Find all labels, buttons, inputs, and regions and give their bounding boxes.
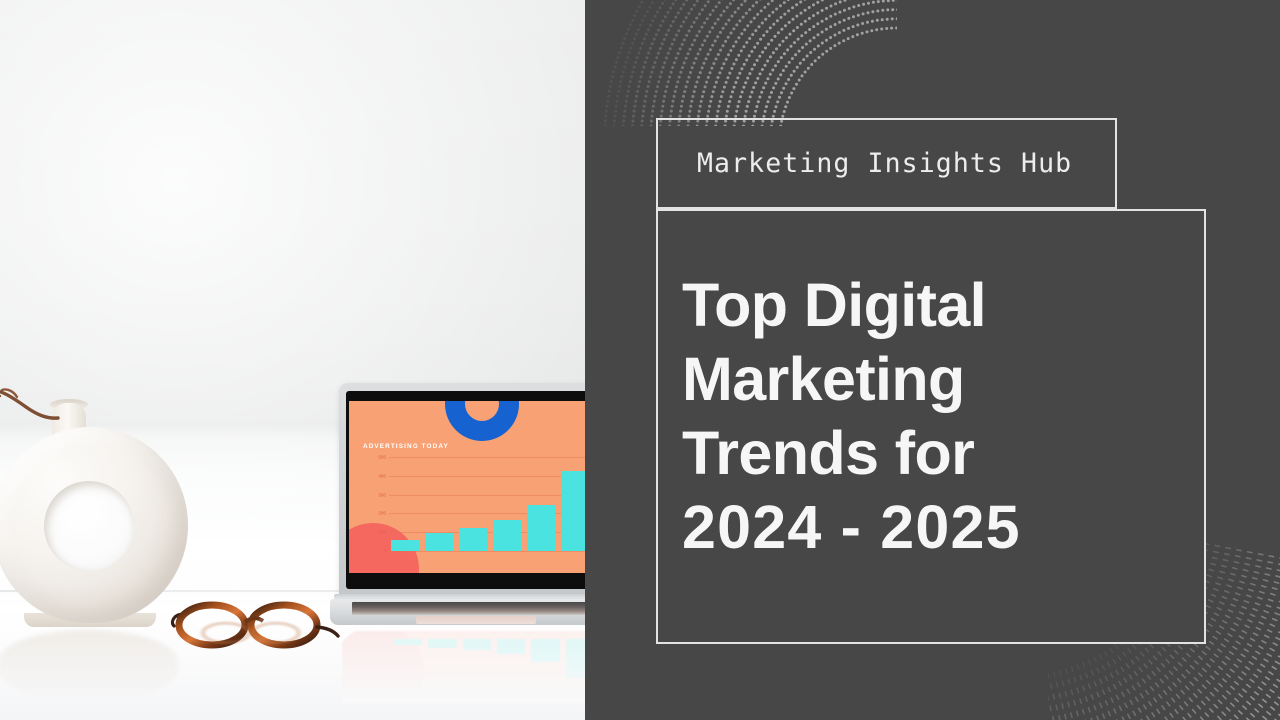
laptop-trackpad xyxy=(416,616,536,624)
headline-line-2: Marketing xyxy=(682,342,1182,416)
screen-chart-plot: 500 400 300 200 100 0 xyxy=(389,457,585,551)
headline-line-4: 2024 - 2025 xyxy=(682,490,1182,564)
chart-bar xyxy=(493,520,521,551)
chart-bar xyxy=(425,533,453,551)
chart-bar xyxy=(527,505,555,551)
gridline: 0 xyxy=(389,551,585,552)
dried-branch-icon xyxy=(0,385,92,431)
headline-line-3: Trends for xyxy=(682,416,1182,490)
screen-chart-title: ADVERTISING TODAY xyxy=(363,443,449,450)
content-panel: Marketing Insights Hub Top Digital Marke… xyxy=(585,0,1280,720)
chart-bar xyxy=(459,528,487,551)
laptop: ADVERTISING TODAY 500 400 300 200 100 0 xyxy=(334,383,585,633)
screen-donut-shape xyxy=(445,401,519,441)
laptop-keyboard xyxy=(352,602,585,615)
eyebrow-text: Marketing Insights Hub xyxy=(697,148,1072,179)
headline-line-1: Top Digital xyxy=(682,268,1182,342)
eyebrow-frame: Marketing Insights Hub xyxy=(656,118,1117,209)
y-tick: 300 xyxy=(378,492,386,497)
chart-bar xyxy=(391,540,419,551)
chart-bars xyxy=(389,457,585,551)
photo-panel: ADVERTISING TODAY 500 400 300 200 100 0 xyxy=(0,0,585,720)
halftone-pattern-top-left-icon xyxy=(585,0,897,126)
laptop-screen: ADVERTISING TODAY 500 400 300 200 100 0 xyxy=(349,401,585,573)
headline: Top Digital Marketing Trends for 2024 - … xyxy=(682,268,1182,564)
headline-frame: Top Digital Marketing Trends for 2024 - … xyxy=(656,209,1206,644)
y-tick: 500 xyxy=(378,455,386,460)
y-tick: 0 xyxy=(383,549,386,554)
y-tick: 100 xyxy=(378,530,386,535)
y-tick: 400 xyxy=(378,473,386,478)
vase-reflection xyxy=(0,630,178,700)
y-tick: 200 xyxy=(378,511,386,516)
vase-hole xyxy=(44,481,134,571)
eyeglasses-reflection xyxy=(172,620,340,645)
laptop-reflection xyxy=(342,631,585,703)
slide-canvas: ADVERTISING TODAY 500 400 300 200 100 0 xyxy=(0,0,1280,720)
chart-bar xyxy=(561,471,585,551)
laptop-bezel: ADVERTISING TODAY 500 400 300 200 100 0 xyxy=(346,391,585,589)
reflection-fade xyxy=(342,631,585,703)
